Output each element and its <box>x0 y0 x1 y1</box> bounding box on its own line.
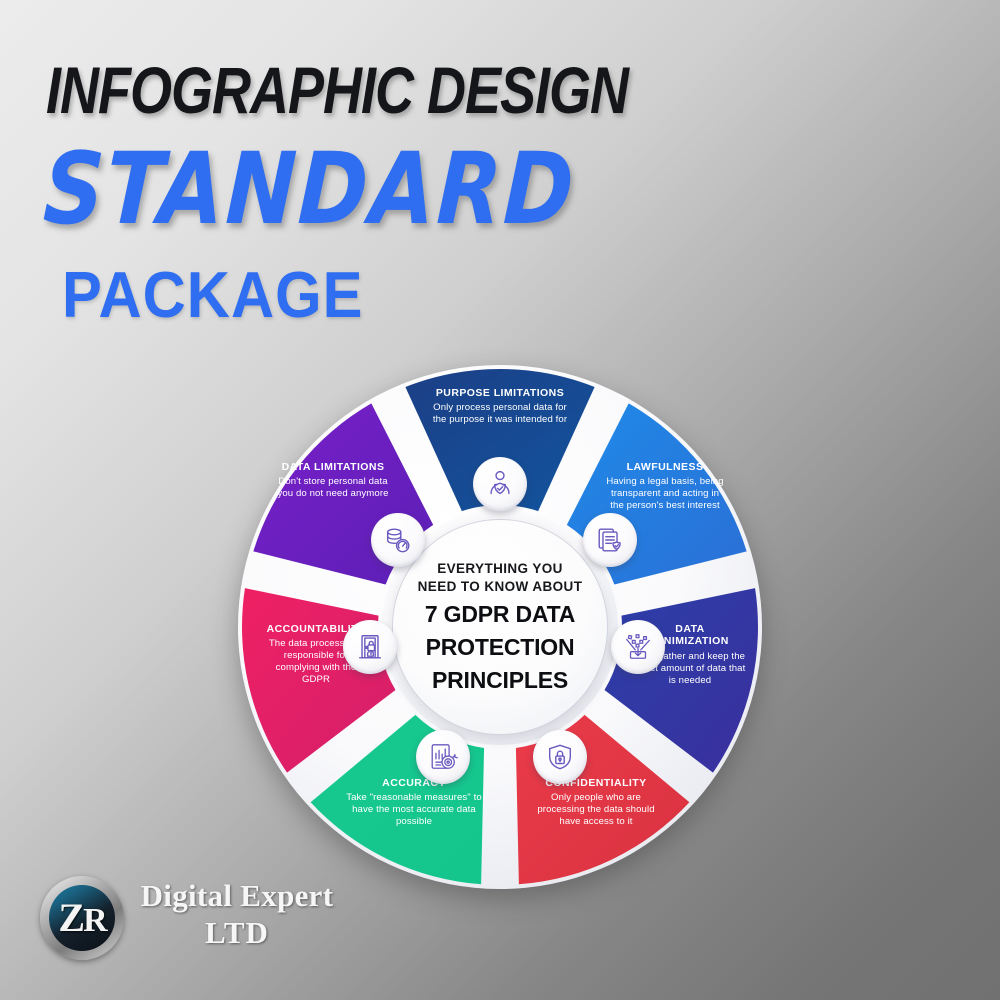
center-kicker-line-1: EVERYTHING YOU <box>437 560 563 578</box>
icon-bubble-purpose-limitations[interactable] <box>473 457 527 511</box>
center-title-line-1: 7 GDPR DATA <box>425 602 575 628</box>
headline-line-2: STANDARD <box>42 139 686 238</box>
person-shield-check-icon <box>485 469 515 499</box>
headline-line-1: INFOGRAPHIC DESIGN <box>46 58 686 125</box>
icon-bubble-data-limitations[interactable] <box>371 513 425 567</box>
icon-bubble-accountability[interactable] <box>343 620 397 674</box>
logo-name-line-2: LTD <box>132 915 342 952</box>
icon-bubble-lawfulness[interactable] <box>583 513 637 567</box>
brand-logo: ZR Digital Expert LTD <box>40 872 340 972</box>
logo-monogram: ZR <box>58 898 105 938</box>
shield-lock-icon <box>545 742 575 772</box>
gdpr-principles-wheel: EVERYTHING YOU NEED TO KNOW ABOUT 7 GDPR… <box>238 365 762 889</box>
icon-bubble-data-minimization[interactable] <box>611 620 665 674</box>
center-kicker-line-2: NEED TO KNOW ABOUT <box>418 578 583 596</box>
logo-name-line-1: Digital Expert <box>132 878 342 915</box>
logo-wordmark: Digital Expert LTD <box>132 878 342 951</box>
center-title-line-2: PROTECTION <box>426 635 575 661</box>
database-gauge-icon <box>383 525 413 555</box>
center-title-line-3: PRINCIPLES <box>432 668 568 694</box>
door-lock-hand-icon <box>355 632 385 662</box>
headline-line-3: PACKAGE <box>62 263 705 328</box>
icon-bubble-confidentiality[interactable] <box>533 730 587 784</box>
headline-block: INFOGRAPHIC DESIGN STANDARD PACKAGE <box>46 58 686 321</box>
document-shield-check-icon <box>595 525 625 555</box>
report-target-icon <box>428 742 458 772</box>
logo-mark-disc: ZR <box>49 885 115 951</box>
data-funnel-download-icon <box>623 632 653 662</box>
icon-bubble-accuracy[interactable] <box>416 730 470 784</box>
logo-mark-ring: ZR <box>40 876 124 960</box>
wheel-center-hub: EVERYTHING YOU NEED TO KNOW ABOUT 7 GDPR… <box>393 520 607 734</box>
